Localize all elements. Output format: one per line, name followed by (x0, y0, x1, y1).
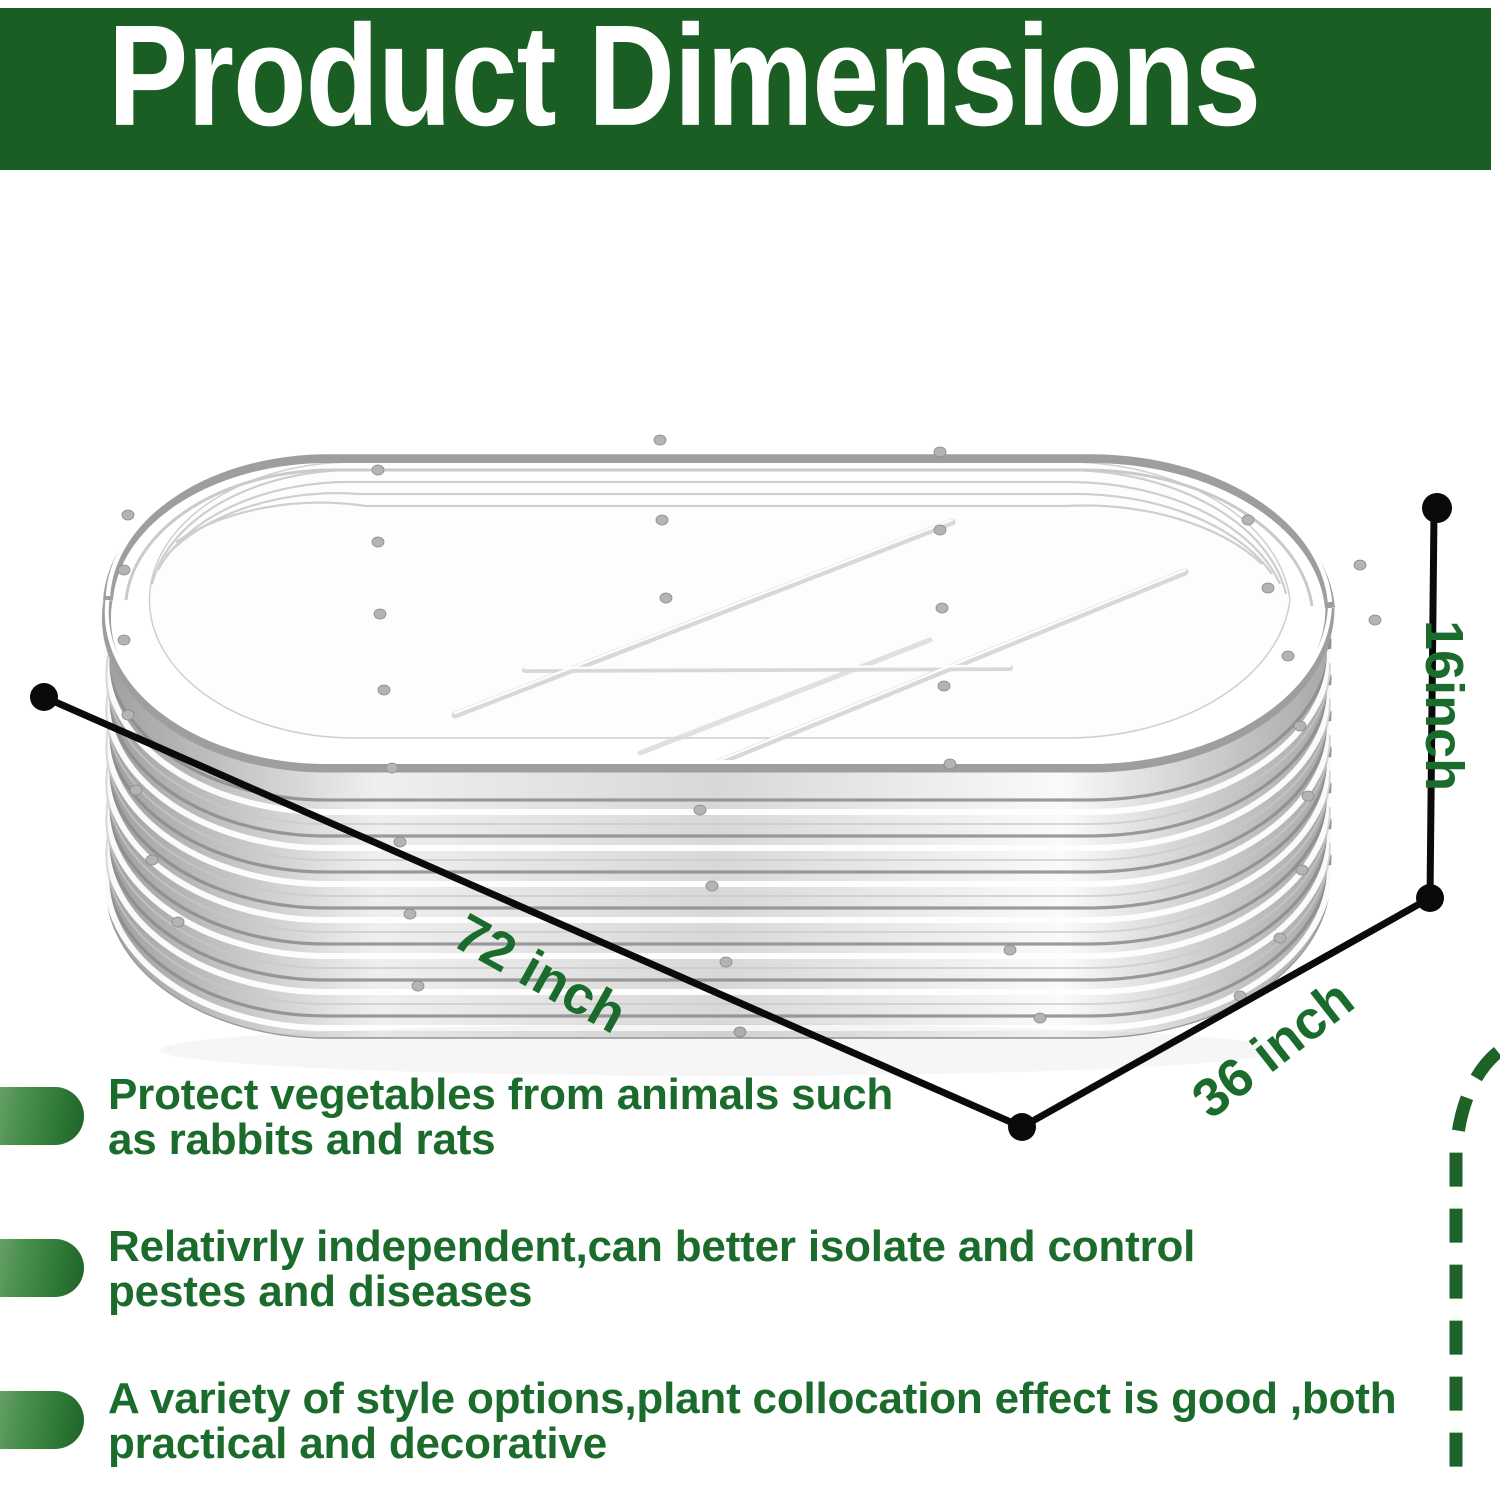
feature-text: Protect vegetables from animals such as … (108, 1073, 1448, 1163)
bullet-pill-icon (0, 1239, 84, 1297)
feature-line-1: Protect vegetables from animals such (108, 1073, 1448, 1118)
feature-text: Relativrly independent,can better isolat… (108, 1225, 1448, 1315)
feature-line-2: as rabbits and rats (108, 1118, 1448, 1163)
feature-text: A variety of style options,plant colloca… (108, 1377, 1448, 1467)
feature-line-2: practical and decorative (108, 1422, 1448, 1467)
infographic-page: 72 inch 36 inch 16inch Product Dimension… (0, 0, 1500, 1487)
feature-line-1: Relativrly independent,can better isolat… (108, 1225, 1448, 1270)
bullet-pill-icon (0, 1087, 84, 1145)
dimension-label-height: 16inch (1417, 620, 1471, 791)
page-title: Product Dimensions (108, 8, 1260, 148)
header-banner: Product Dimensions (0, 8, 1491, 170)
bullet-pill-icon (0, 1391, 84, 1449)
feature-list: Protect vegetables from animals such as … (0, 1073, 1500, 1487)
feature-line-1: A variety of style options,plant colloca… (108, 1377, 1448, 1422)
list-item: A variety of style options,plant colloca… (0, 1377, 1500, 1487)
list-item: Relativrly independent,can better isolat… (0, 1225, 1500, 1377)
list-item: Protect vegetables from animals such as … (0, 1073, 1500, 1225)
bed-interior (149, 462, 1290, 770)
feature-line-2: pestes and diseases (108, 1270, 1448, 1315)
